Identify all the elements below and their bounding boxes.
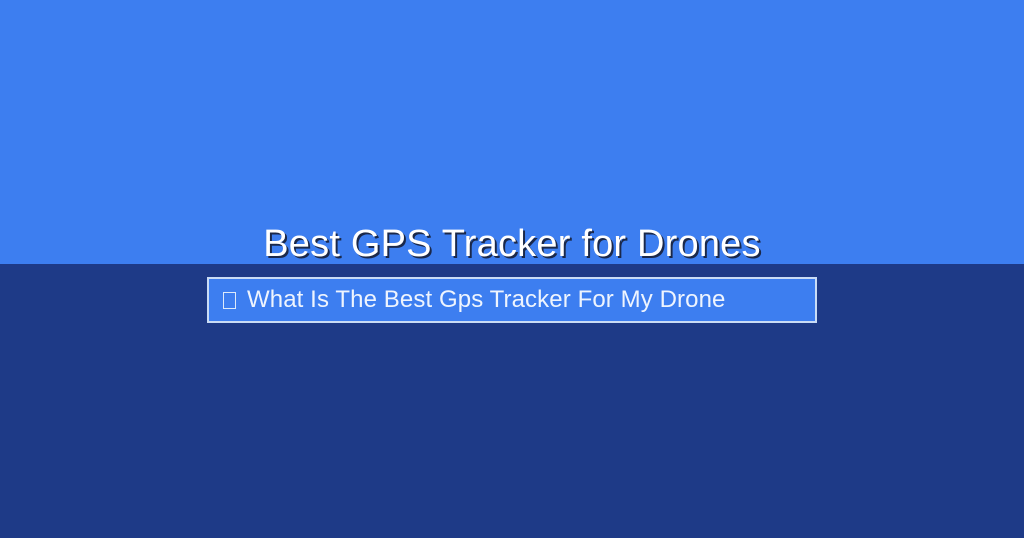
page-root: Best GPS Tracker for Drones What Is The … — [0, 0, 1024, 538]
cta-content: What Is The Best Gps Tracker For My Dron… — [223, 286, 725, 314]
toc-question-button[interactable]: What Is The Best Gps Tracker For My Dron… — [207, 277, 817, 323]
toc-question-label: What Is The Best Gps Tracker For My Dron… — [247, 286, 725, 314]
cta-container: What Is The Best Gps Tracker For My Dron… — [0, 277, 1024, 323]
page-title: Best GPS Tracker for Drones — [0, 221, 1024, 267]
missing-glyph-box-icon — [223, 292, 236, 309]
